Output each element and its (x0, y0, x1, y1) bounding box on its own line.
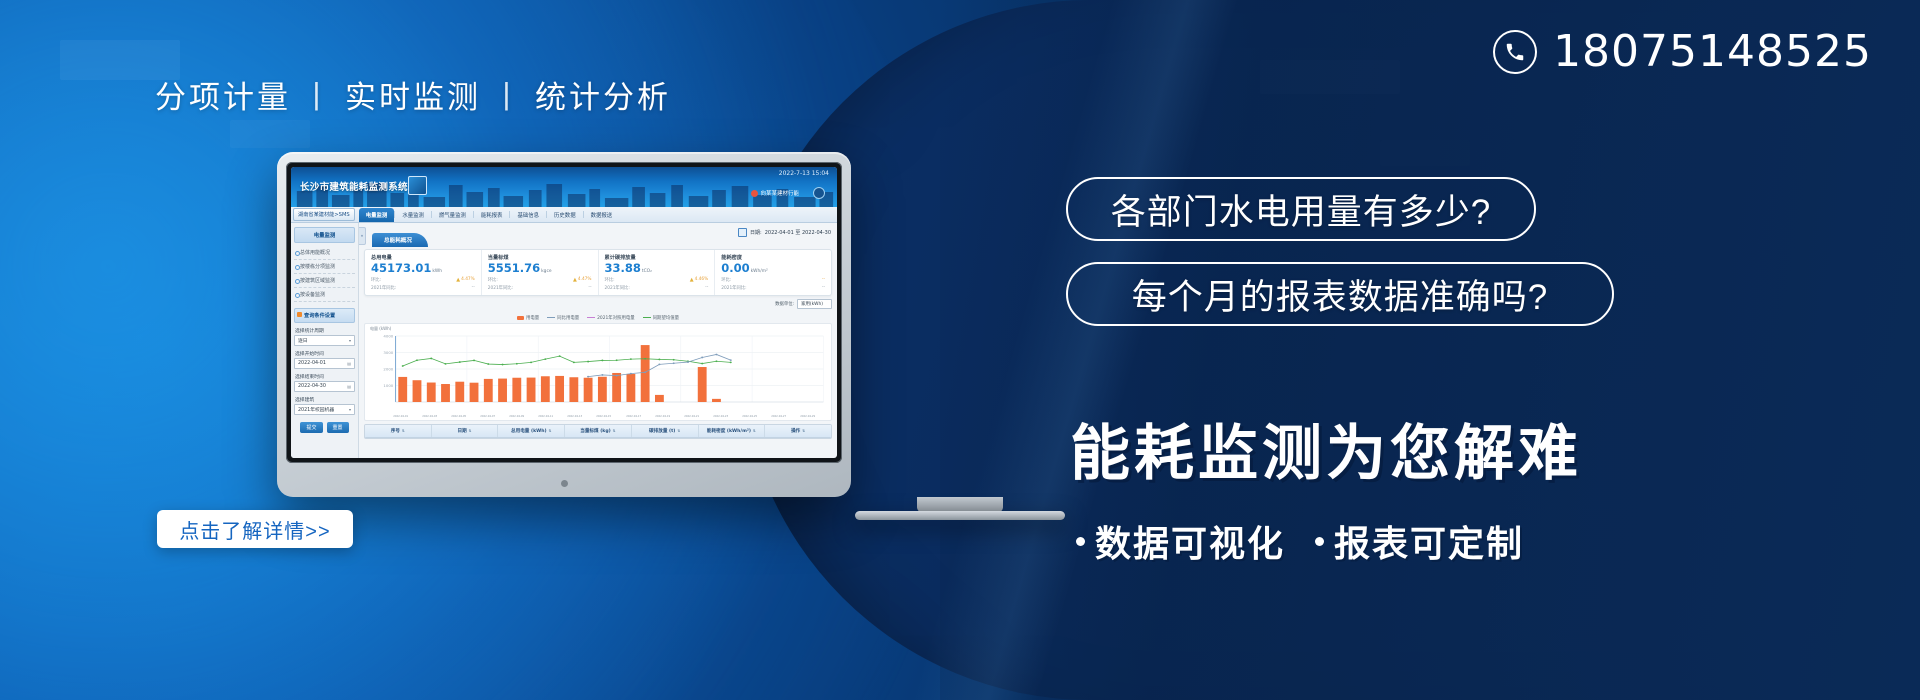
header-timestamp: 2022-7-13 15:04 (779, 170, 829, 177)
dashboard-header: 长沙市建筑能耗监测系统 2022-7-13 15:04 向某某建材行能 (291, 167, 837, 207)
legend-label: 用电量 (526, 315, 539, 321)
field-label-end-date: 选择结束时间 (295, 373, 355, 380)
chevron-down-icon: ▾ (349, 338, 351, 343)
trend-up-icon: ▲ (690, 277, 694, 283)
chart-x-tick: 2022-04-23 (713, 414, 728, 417)
tagline-part-3: 统计分析 (535, 80, 671, 115)
table-header-cell[interactable]: 序号⇅ (365, 425, 432, 437)
legend-item-usage[interactable]: 用电量 (517, 315, 539, 321)
kpi-compare-label: 环比: (371, 277, 381, 283)
phone-icon (1493, 30, 1537, 74)
kpi-delta-value: 4.46% (695, 277, 709, 282)
date-range-value: 2022-04-01 至 2022-04-30 (765, 229, 831, 236)
headline: 能耗监测为您解难 (1070, 405, 1582, 492)
nav-tab-data-submit[interactable]: 数据报送 (584, 208, 620, 222)
kpi-yoy-value: -- (705, 285, 708, 290)
legend-label: 同比用电量 (557, 315, 579, 321)
legend-item-average[interactable]: 同期望均值量 (643, 315, 679, 321)
calendar-icon (738, 228, 747, 237)
monitor-mockup: 长沙市建筑能耗监测系统 2022-7-13 15:04 向某某建材行能 湖南省某… (277, 152, 851, 497)
submit-button[interactable]: 提交 (300, 422, 322, 433)
feature-bullet-1-text: 数据可视化 (1095, 515, 1285, 567)
feature-bullet-1: 数据可视化 (1076, 515, 1285, 567)
chart-x-tick (468, 414, 478, 417)
svg-text:2000: 2000 (383, 367, 394, 371)
chart-x-tick (614, 414, 624, 417)
bullet-dot-icon (1315, 537, 1324, 546)
kpi-title: 当量标煤 (488, 254, 592, 261)
field-label-start-date: 选择开始时间 (295, 350, 355, 357)
chart-x-tick: 2022-04-27 (771, 414, 786, 417)
table-header-cell[interactable]: 碳排放量 (t)⇅ (632, 425, 699, 437)
kpi-title: 总用电量 (371, 254, 475, 261)
kpi-value: 33.88 (605, 261, 641, 275)
legend-label: 2021年对照用电量 (597, 315, 635, 321)
dashboard-main: « 总能耗概况 日期: 2022-04-01 至 2022-04-30 总用电量… (359, 223, 837, 458)
chart-x-tick (410, 414, 420, 417)
trend-up-icon: ▲ (456, 277, 460, 283)
svg-text:4000: 4000 (383, 334, 394, 338)
legend-item-yoy[interactable]: 同比用电量 (547, 315, 579, 321)
chart-x-tick: 2022-04-03 (422, 414, 437, 417)
panel-tab-overview[interactable]: 总能耗概况 (372, 233, 428, 247)
question-pill-1: 各部门水电用量有多少? (1066, 177, 1536, 241)
legend-swatch (643, 317, 651, 318)
power-indicator-icon (561, 480, 568, 487)
sort-icon: ⇅ (677, 429, 680, 433)
monitor-footer (277, 474, 851, 492)
kpi-title: 能耗密度 (721, 254, 825, 261)
sidebar-item-by-device[interactable]: 按设备监测 (294, 288, 355, 302)
chart-x-tick: 2022-04-17 (626, 414, 641, 417)
start-date-input[interactable]: 2022-04-01 ▤ (294, 358, 355, 369)
chart-x-tick (730, 414, 740, 417)
background-glow-streak (801, 0, 1348, 700)
sidebar-title: 电量监测 (294, 227, 355, 243)
tagline-part-2: 实时监测 (345, 80, 481, 115)
chart-x-tick: 2022-04-01 (393, 414, 408, 417)
start-date-value: 2022-04-01 (298, 361, 326, 366)
feature-bullets: 数据可视化 报表可定制 (1076, 515, 1524, 567)
kpi-delta-value: -- (822, 277, 825, 282)
chart-x-tick: 2022-04-29 (800, 414, 815, 417)
sidebar-collapse-icon[interactable]: « (359, 227, 366, 245)
nav-tab-gas[interactable]: 燃气量监测 (432, 208, 473, 222)
date-range-label: 日期: (750, 229, 762, 236)
gear-icon[interactable] (813, 187, 825, 199)
chart-x-tick (439, 414, 449, 417)
kpi-yoy-label: 2021年同比: (721, 285, 746, 291)
kpi-delta-value: 4.47% (578, 277, 592, 282)
user-name: 向某某建材行能 (760, 189, 799, 197)
building-select[interactable]: 2021年校园机器 ▾ (294, 404, 355, 415)
unit-selector[interactable]: 家用(kWh) (797, 299, 832, 309)
building-value: 2021年校园机器 (298, 406, 334, 413)
chart-x-tick: 2022-04-07 (480, 414, 495, 417)
query-actions: 提交 重置 (294, 422, 355, 433)
tagline-part-1: 分项计量 (155, 80, 291, 115)
dashboard-body: 电量监测 总体用能概况 按楼栋分项监测 按建筑区域监测 按设备监测 查询条件设置… (291, 223, 837, 458)
chart-x-tick: 2022-04-25 (742, 414, 757, 417)
cta-button[interactable]: 点击了解详情>> (157, 510, 353, 548)
calendar-icon: ▤ (347, 361, 351, 366)
svg-text:3000: 3000 (383, 351, 394, 355)
table-header-row: 序号⇅日期⇅总用电量 (kWh)⇅当量标煤 (kg)⇅碳排放量 (t)⇅能耗密度… (365, 425, 831, 438)
sidebar-item-by-area[interactable]: 按建筑区域监测 (294, 274, 355, 288)
tagline: 分项计量丨实时监测丨统计分析 (155, 72, 671, 117)
contact-phone[interactable]: 18075148525 (1493, 26, 1872, 77)
kpi-unit: kgce (541, 269, 551, 274)
kpi-unit: kWh/m² (751, 269, 768, 274)
nav-tab-electricity[interactable]: 电量监测 (359, 208, 395, 222)
tagline-separator: 丨 (301, 80, 335, 115)
chart-x-tick: 2022-04-15 (597, 414, 612, 417)
sidebar-item-overview[interactable]: 总体用能概况 (294, 246, 355, 260)
promo-banner: 分项计量丨实时监测丨统计分析 18075148525 (0, 0, 1920, 700)
table-header-cell[interactable]: 总用电量 (kWh)⇅ (498, 425, 565, 437)
sort-icon: ⇅ (613, 429, 616, 433)
chart-x-tick (701, 414, 711, 417)
nav-tab-history[interactable]: 历史数据 (547, 208, 583, 222)
question-pill-1-text: 各部门水电用量有多少? (1111, 184, 1491, 235)
background-speck (1260, 60, 1400, 94)
period-select[interactable]: 逐日 ▾ (294, 335, 355, 346)
dashboard-nav: 湖南省某建材能>SMS 电量监测 水量监测 燃气量监测 能耗报表 基础信息 历史… (291, 207, 837, 223)
field-label-period: 选择统计周期 (295, 327, 355, 334)
kpi-title: 累计碳排放量 (605, 254, 709, 261)
dashboard-app: 长沙市建筑能耗监测系统 2022-7-13 15:04 向某某建材行能 湖南省某… (291, 167, 837, 458)
sort-icon: ⇅ (469, 429, 472, 433)
kpi-unit: tCO₂ (642, 269, 652, 274)
calendar-icon: ▤ (347, 384, 351, 389)
reset-button[interactable]: 重置 (327, 422, 349, 433)
kpi-yoy-label: 2021年同比: (488, 285, 513, 291)
kpi-compare-label: 环比: (721, 277, 731, 283)
kpi-compare-label: 环比: (488, 277, 498, 283)
dashboard-sidebar: 电量监测 总体用能概况 按楼栋分项监测 按建筑区域监测 按设备监测 查询条件设置… (291, 223, 359, 458)
chart-x-tick (497, 414, 507, 417)
chart-x-tick: 2022-04-05 (451, 414, 466, 417)
legend-item-2021[interactable]: 2021年对照用电量 (587, 315, 635, 321)
feature-bullet-2: 报表可定制 (1315, 515, 1524, 567)
table-header-cell[interactable]: 操作⇅ (765, 425, 831, 437)
kpi-yoy-value: -- (822, 285, 825, 290)
sort-icon: ⇅ (802, 429, 805, 433)
sort-icon: ⇅ (549, 429, 552, 433)
table-header-cell[interactable]: 能耗密度 (kWh/m²)⇅ (699, 425, 766, 437)
chart-x-tick (585, 414, 595, 417)
chart-x-tick: 2022-04-21 (684, 414, 699, 417)
chart-x-tick: 2022-04-11 (539, 414, 554, 417)
system-title: 长沙市建筑能耗监测系统 (300, 179, 408, 193)
chart-x-tick (672, 414, 682, 417)
chart-x-tick: 2022-04-19 (655, 414, 670, 417)
legend-swatch (517, 316, 524, 320)
chart-x-axis-labels: 2022-04-012022-04-032022-04-052022-04-07… (368, 414, 828, 420)
kpi-card-energy-density: 能耗密度 0.00kWh/m² 环比:-- 2021年同比:-- (715, 250, 831, 295)
chart-canvas: 1000200030004000 (368, 332, 828, 410)
kpi-unit: kWh (432, 269, 442, 274)
nav-tab-water[interactable]: 水量监测 (395, 208, 431, 222)
chart-x-tick (643, 414, 653, 417)
unit-selector-label: 数据单位: (775, 301, 794, 307)
period-value: 逐日 (298, 337, 308, 344)
sort-icon: ⇅ (753, 429, 756, 433)
kpi-value: 0.00 (721, 261, 749, 275)
kpi-delta-value: 4.47% (461, 277, 475, 282)
kpi-cards: 总用电量 45173.01kWh 环比:▲4.47% 2021年同比:-- 当量… (364, 249, 832, 296)
question-pill-2-text: 每个月的报表数据准确吗? (1132, 269, 1548, 320)
feature-bullet-2-text: 报表可定制 (1334, 515, 1524, 567)
query-panel-title: 查询条件设置 (294, 308, 355, 323)
kpi-card-total-electricity: 总用电量 45173.01kWh 环比:▲4.47% 2021年同比:-- (365, 250, 482, 295)
user-avatar-icon (751, 190, 758, 197)
tagline-separator: 丨 (491, 80, 525, 115)
kpi-card-carbon-emission: 累计碳排放量 33.88tCO₂ 环比:▲4.46% 2021年同比:-- (599, 250, 716, 295)
svg-text:1000: 1000 (383, 384, 394, 388)
kpi-yoy-label: 2021年同比: (371, 285, 396, 291)
legend-swatch (587, 317, 595, 318)
table-header-cell[interactable]: 日期⇅ (432, 425, 499, 437)
end-date-input[interactable]: 2022-04-30 ▤ (294, 381, 355, 392)
background-speck (1380, 140, 1470, 166)
kpi-yoy-value: -- (588, 285, 591, 290)
chart-x-tick (817, 414, 827, 417)
kpi-yoy-label: 2021年同比: (605, 285, 630, 291)
kpi-yoy-value: -- (472, 285, 475, 290)
energy-chart: 电量 (kWh) 1000200030004000 2022-04-012022… (364, 323, 832, 421)
monitor-screen: 长沙市建筑能耗监测系统 2022-7-13 15:04 向某某建材行能 湖南省某… (286, 162, 842, 463)
trend-up-icon: ▲ (573, 277, 577, 283)
phone-number: 18075148525 (1553, 26, 1872, 77)
field-label-building: 选择建筑 (295, 396, 355, 403)
user-account[interactable]: 向某某建材行能 (751, 189, 799, 197)
kpi-value: 45173.01 (371, 261, 431, 275)
question-pill-2: 每个月的报表数据准确吗? (1066, 262, 1614, 326)
end-date-value: 2022-04-30 (298, 384, 326, 389)
background-speck (230, 120, 310, 148)
table-header-cell[interactable]: 当量标煤 (kg)⇅ (565, 425, 632, 437)
monitor-stand-base (855, 511, 1065, 520)
system-logo-icon (408, 176, 427, 195)
chart-x-tick (759, 414, 769, 417)
sort-icon: ⇅ (402, 429, 405, 433)
kpi-value: 5551.76 (488, 261, 540, 275)
kpi-compare-label: 环比: (605, 277, 615, 283)
nav-tab-report[interactable]: 能耗报表 (474, 208, 510, 222)
legend-label: 同期望均值量 (653, 315, 679, 321)
nav-tab-basic-info[interactable]: 基础信息 (510, 208, 546, 222)
chart-x-tick (556, 414, 566, 417)
chart-x-tick: 2022-04-13 (568, 414, 583, 417)
chevron-down-icon: ▾ (349, 407, 351, 412)
legend-swatch (547, 317, 555, 318)
chart-legend: 用电量 同比用电量 2021年对照用电量 同期望均值量 (364, 315, 832, 321)
kpi-card-standard-coal: 当量标煤 5551.76kgce 环比:▲4.47% 2021年同比:-- (482, 250, 599, 295)
chart-x-tick: 2022-04-09 (510, 414, 525, 417)
org-selector[interactable]: 湖南省某建材能>SMS (293, 208, 355, 221)
chart-x-tick (788, 414, 798, 417)
bullet-dot-icon (1076, 537, 1085, 546)
sidebar-item-by-building[interactable]: 按楼栋分项监测 (294, 260, 355, 274)
date-range-display[interactable]: 日期: 2022-04-01 至 2022-04-30 (738, 228, 831, 237)
data-table: 序号⇅日期⇅总用电量 (kWh)⇅当量标煤 (kg)⇅碳排放量 (t)⇅能耗密度… (364, 424, 832, 439)
chart-x-tick (527, 414, 537, 417)
